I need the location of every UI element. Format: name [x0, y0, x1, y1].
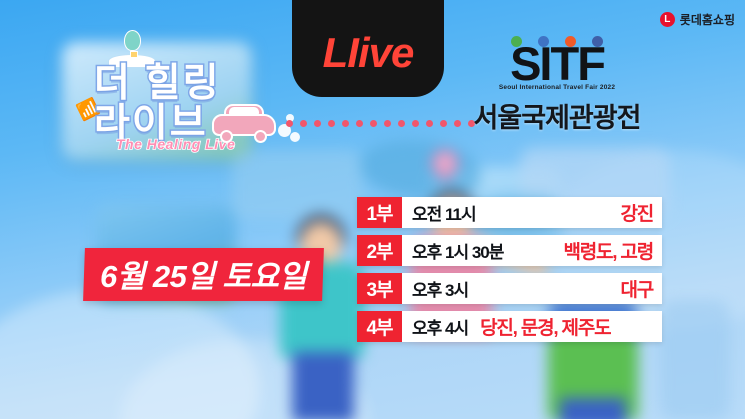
part-badge: 4부: [357, 311, 402, 342]
date-banner: 6월 25일 토요일: [83, 248, 323, 301]
promo-graphic: 📶 더 힐링 라이브 The Healing Live LIive SITF: [0, 0, 745, 419]
sitf-logo-block: SITF Seoul International Travel Fair 202…: [452, 36, 662, 135]
healing-live-logo: 📶 더 힐링 라이브 The Healing Live: [72, 28, 284, 160]
row-body: 오후 1시 30분 백령도, 고령: [402, 235, 662, 266]
airtime-text: 오후 3시: [412, 276, 468, 301]
row-body: 오후 3시 대구: [402, 273, 662, 304]
table-row: 1부 오전 11시 강진: [357, 197, 662, 228]
airtime-text: 오전 11시: [412, 200, 476, 225]
location-text: 강진: [620, 199, 653, 226]
airtime-text: 오후 4시: [412, 314, 468, 339]
broadcaster-name: 롯데홈쇼핑: [680, 11, 735, 28]
location-text: 대구: [620, 275, 653, 302]
location-text: 백령도, 고령: [563, 237, 653, 264]
part-badge: 3부: [357, 273, 402, 304]
sitf-wordmark: SITF: [452, 41, 662, 86]
sitf-korean-title: 서울국제관광전: [452, 96, 662, 135]
live-logo-text: LIive: [323, 29, 414, 77]
schedule-table: 1부 오전 11시 강진 2부 오후 1시 30분 백령도, 고령 3부 오후 …: [357, 197, 662, 342]
healing-live-subtitle: The Healing Live: [116, 136, 235, 152]
figure-body: [660, 300, 730, 419]
table-row: 3부 오후 3시 대구: [357, 273, 662, 304]
photo-card: [232, 150, 362, 220]
broadcaster-brand-badge: L 롯데홈쇼핑: [660, 11, 735, 28]
lotte-logo-icon: L: [660, 12, 675, 27]
part-badge: 2부: [357, 235, 402, 266]
row-body: 오후 4시 당진, 문경, 제주도: [402, 311, 662, 342]
part-badge: 1부: [357, 197, 402, 228]
exhaust-puff-icon: [290, 132, 300, 142]
airtime-text: 오후 1시 30분: [412, 238, 503, 263]
sitf-tagline: Seoul International Travel Fair 2022: [452, 84, 662, 91]
hot-air-balloon-icon: [124, 30, 141, 51]
location-text: 당진, 문경, 제주도: [480, 313, 610, 340]
figure-legs: [560, 398, 626, 419]
date-text: 6월 25일 토요일: [100, 251, 307, 296]
figure-legs: [292, 352, 354, 419]
car-icon: [212, 104, 276, 138]
row-body: 오전 11시 강진: [402, 197, 662, 228]
table-row: 4부 오후 4시 당진, 문경, 제주도: [357, 311, 662, 342]
dotted-connector: [286, 120, 475, 127]
map-landmass: [360, 140, 480, 200]
table-row: 2부 오후 1시 30분 백령도, 고령: [357, 235, 662, 266]
live-logo-tile: LIive: [292, 0, 444, 97]
